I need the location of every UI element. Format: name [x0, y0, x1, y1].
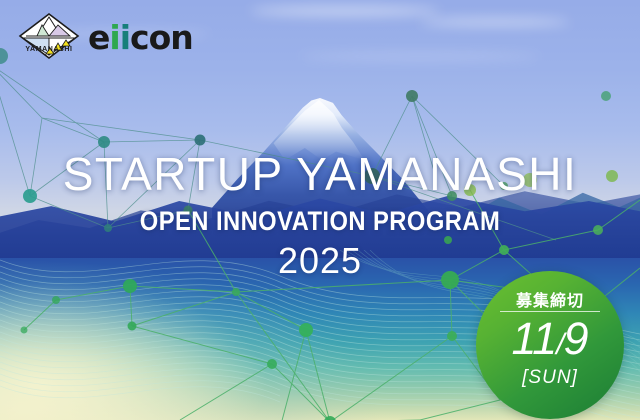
yamanashi-logo-label: YAMANASHI — [14, 46, 84, 53]
network-node — [267, 359, 277, 369]
eiicon-letters-con: con — [130, 18, 193, 57]
deadline-day-of-week: [SUN] — [476, 367, 624, 389]
network-node — [406, 90, 418, 102]
network-node — [123, 279, 137, 293]
deadline-separator: / — [556, 328, 563, 361]
network-node — [232, 288, 240, 296]
headline-main: STARTUP YAMANASHI — [0, 148, 640, 200]
eiicon-letter-i-green: i — [109, 18, 119, 57]
deadline-badge[interactable]: 募集締切 11/9 [SUN] — [476, 271, 624, 419]
deadline-badge-divider — [500, 311, 600, 312]
logo-bar: YAMANASHI eiicon — [0, 0, 640, 70]
network-node — [21, 327, 28, 334]
network-node — [447, 331, 457, 341]
promo-banner: YAMANASHI eiicon STARTUP YAMANASHI OPEN … — [0, 0, 640, 420]
headline-subtitle: OPEN INNOVATION PROGRAM — [38, 206, 601, 236]
network-node — [299, 323, 313, 337]
deadline-month: 11 — [511, 313, 556, 364]
network-node — [52, 296, 60, 304]
deadline-badge-date: 11/9 — [476, 313, 624, 371]
network-node — [601, 91, 611, 101]
network-node — [128, 322, 137, 331]
eiicon-letter-e: e — [88, 18, 109, 57]
eiicon-logo[interactable]: eiicon — [88, 21, 193, 54]
deadline-badge-label: 募集締切 — [476, 287, 624, 311]
eiicon-letter-i-teal: i — [120, 18, 130, 57]
network-node — [195, 135, 206, 146]
deadline-day: 9 — [564, 313, 589, 364]
network-node — [98, 136, 110, 148]
